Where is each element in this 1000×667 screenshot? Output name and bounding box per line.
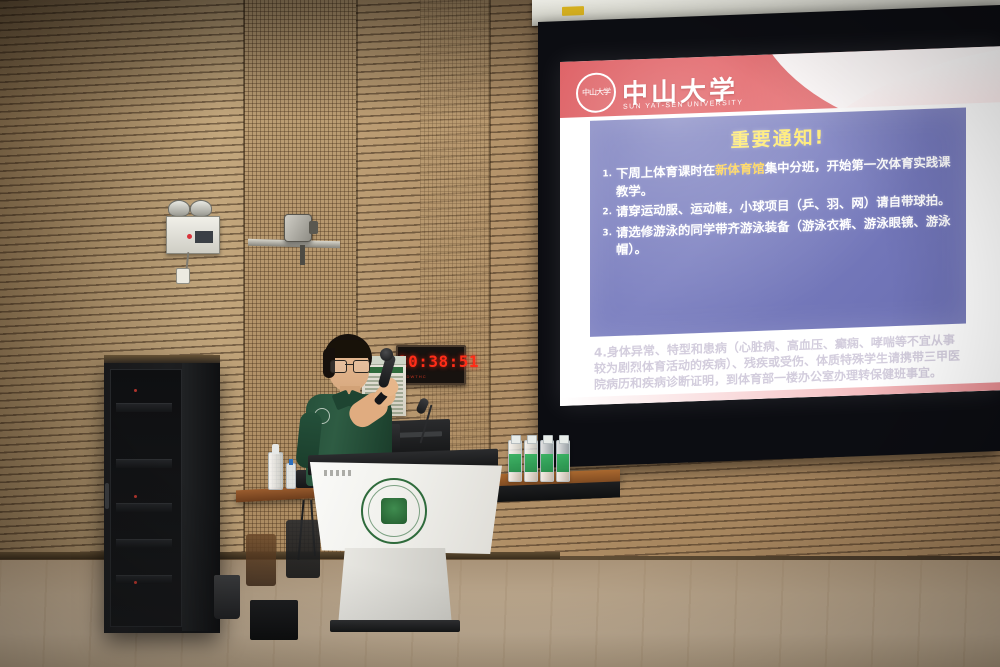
list-item-number: 2. [596,203,612,221]
emergency-light [168,200,212,216]
water-bottle [508,440,522,482]
highlighted-term: 新体育馆 [715,161,765,178]
slide-footnote: 4.身体异常、特型和患病（心脏病、高血压、癫痫、哮喘等不宜从事较为剧烈体育活动的… [594,331,966,393]
list-item-number: 1. [596,165,612,201]
floor-equipment-case [214,575,240,619]
screen-brand-label [562,6,584,16]
logo-icon-text: 中山大学 [582,88,610,97]
podium [306,462,502,554]
wall-speaker [284,214,312,242]
water-bottle [524,440,538,482]
rack-slot [116,575,172,584]
university-logo-icon: 中山大学 [576,72,616,113]
wooden-chair [246,534,276,586]
rack-status-led [134,581,137,584]
slide-body: 重要通知! 1. 下周上体育课时在新体育馆集中分班，开始第一次体育实践课教学。 … [560,102,1000,406]
glasses-lens-right [353,360,370,373]
emergency-lamp-left [168,200,190,217]
podium-foot [330,620,460,632]
university-seal-icon [361,478,427,544]
water-bottle [540,440,554,482]
rack-door-handle[interactable] [105,483,109,509]
hand-sanitizer-bottle [268,452,283,490]
floor-box [250,600,298,640]
bottle-cap [511,435,521,444]
bottle-label [525,454,537,472]
projection-screen: 中山大学 中山大学 SUN YAT-SEN UNIVERSITY 重要通知! 1… [524,0,1000,470]
stacked-chair [286,520,320,578]
emergency-lamp-right [190,200,212,217]
slide-title: 重要通知! [590,117,966,157]
small-spray-bottle [286,463,296,489]
control-panel-display [195,231,213,243]
bottle-label [557,454,569,472]
slide-content-box: 重要通知! 1. 下周上体育课时在新体育馆集中分班，开始第一次体育实践课教学。 … [590,107,966,336]
bottle-cap [527,435,537,444]
slide-bullet-list: 1. 下周上体育课时在新体育馆集中分班，开始第一次体育实践课教学。 2. 请穿运… [596,153,956,260]
wall-control-panel[interactable] [166,216,220,254]
glasses-lens-left [330,360,347,373]
water-bottle [556,440,570,482]
rack-slot [116,539,172,548]
bottle-cap [559,435,569,444]
equipment-rack [104,363,220,633]
rack-status-led [134,495,137,498]
rack-slot [116,403,172,412]
speaker-bracket [300,245,305,265]
projected-slide: 中山大学 中山大学 SUN YAT-SEN UNIVERSITY 重要通知! 1… [560,46,1000,406]
seal-center-emblem [381,498,407,524]
list-item-number: 3. [596,224,612,260]
lecture-hall-photo: 中山大学 中山大学 SUN YAT-SEN UNIVERSITY 重要通知! 1… [0,0,1000,667]
wall-outlet [176,268,190,284]
control-panel-led [187,234,192,239]
glasses-bridge [345,364,353,365]
bottle-cap [543,435,553,444]
rack-status-led [134,389,137,392]
bottle-label [541,454,553,472]
rack-slot [116,503,172,512]
glasses-icon [330,360,368,371]
rack-slot [116,459,172,468]
podium-base [338,548,452,626]
bottle-label [509,454,521,472]
podium-brand-mark [324,470,352,476]
